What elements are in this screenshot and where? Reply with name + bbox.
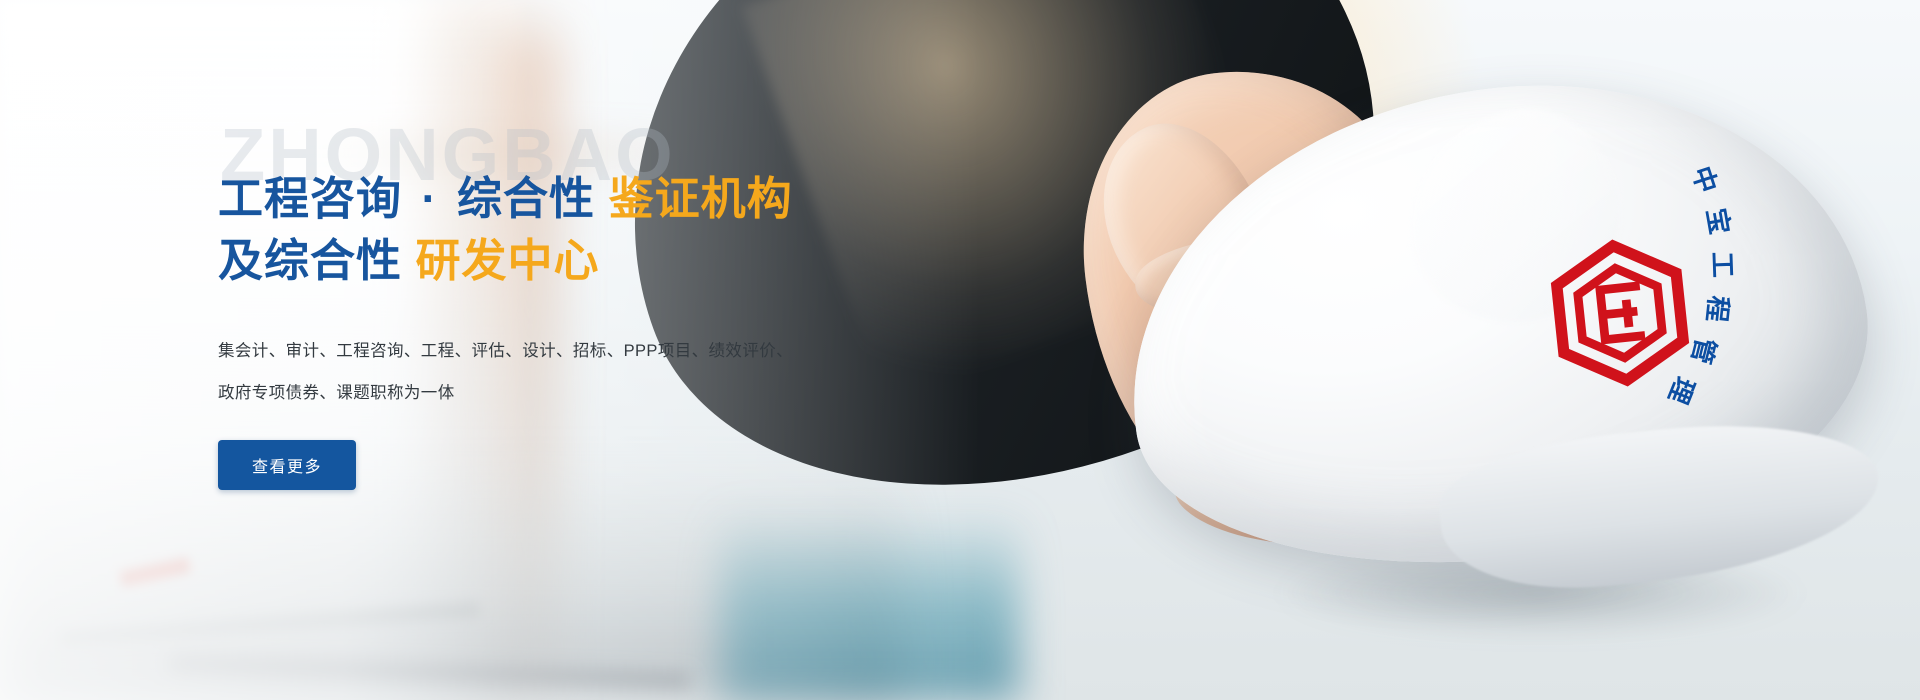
hero-description: 集会计、审计、工程咨询、工程、评估、设计、招标、PPP项目、绩效评价、 政府专项… [218, 330, 918, 414]
headline-line1-part2: 综合性 [457, 173, 595, 224]
headline-line1-part3: 鉴证机构 [609, 173, 793, 224]
headline-line2-part2: 研发中心 [416, 235, 600, 286]
page-title: 工程咨询 · 综合性 鉴证机构 及综合性 研发中心 [218, 168, 918, 292]
helmet-char-4: 程 [1701, 294, 1734, 327]
headline-line2-part1: 及综合性 [218, 235, 402, 286]
company-logo-icon [1538, 231, 1703, 396]
headline-line1-part1: 工程咨询 [218, 173, 402, 224]
view-more-button[interactable]: 查看更多 [218, 440, 356, 490]
helmet-char-1: 中 [1686, 163, 1724, 201]
headline-separator-dot: · [416, 173, 444, 224]
helmet-char-3: 工 [1707, 251, 1738, 282]
description-line-2: 政府专项债券、课题职称为一体 [218, 372, 918, 414]
description-line-1: 集会计、审计、工程咨询、工程、评估、设计、招标、PPP项目、绩效评价、 [218, 330, 918, 372]
hero-banner: 中 宝 工 程 管 理 ZHONGBAO 工程咨询 · 综合性 鉴证机构 及综合… [0, 0, 1920, 700]
hero-content: ZHONGBAO 工程咨询 · 综合性 鉴证机构 及综合性 研发中心 集会计、审… [218, 118, 918, 490]
helmet-char-2: 宝 [1701, 206, 1736, 241]
